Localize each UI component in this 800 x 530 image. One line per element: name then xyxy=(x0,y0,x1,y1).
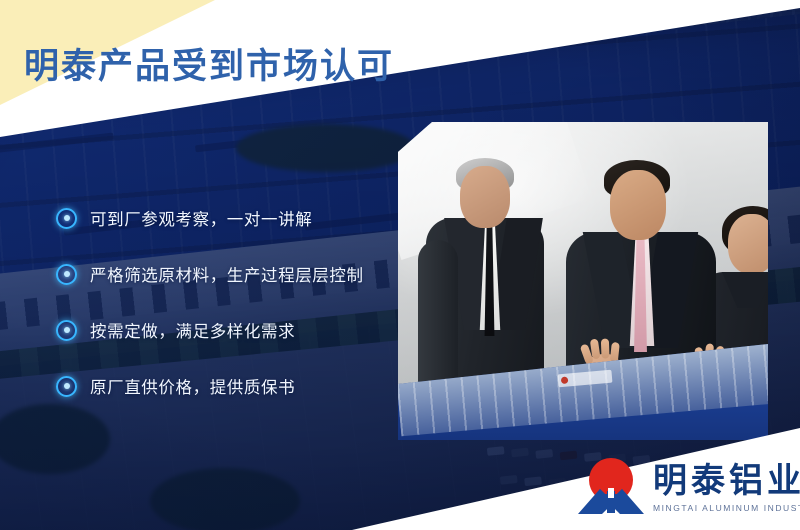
logo-text-block: 明泰铝业 MINGTAI ALUMINUM INDUSTRY CO., LTD xyxy=(653,458,800,513)
person-businessman-left-head xyxy=(460,166,510,228)
logo-center-highlight xyxy=(608,488,614,498)
business-people-photo xyxy=(398,122,768,440)
bullet-label: 严格筛选原材料，生产过程层层控制 xyxy=(90,262,364,286)
target-bullet-icon xyxy=(56,208,77,229)
list-item: 按需定做，满足多样化需求 xyxy=(56,318,396,342)
person-businessman-left-arm xyxy=(418,240,458,400)
target-bullet-icon xyxy=(56,320,77,341)
person-businesswoman-head xyxy=(728,214,768,274)
bullet-label: 原厂直供价格，提供质保书 xyxy=(90,374,295,398)
company-logo[interactable]: 明泰铝业 MINGTAI ALUMINUM INDUSTRY CO., LTD xyxy=(578,458,800,516)
target-bullet-icon xyxy=(56,376,77,397)
list-item: 严格筛选原材料，生产过程层层控制 xyxy=(56,262,396,286)
company-name-cn: 明泰铝业 xyxy=(653,464,800,498)
page-title: 明泰产品受到市场认可 xyxy=(24,49,394,84)
list-item: 原厂直供价格，提供质保书 xyxy=(56,374,396,398)
company-name-en: MINGTAI ALUMINUM INDUSTRY CO., LTD xyxy=(653,503,800,513)
promotional-banner: 明泰产品受到市场认可 可到厂参观考察，一对一讲解 严格筛选原材料，生产过程层层控… xyxy=(0,0,800,530)
photo-factory-sign xyxy=(558,370,613,388)
list-item: 可到厂参观考察，一对一讲解 xyxy=(56,206,396,230)
target-bullet-icon xyxy=(56,264,77,285)
bullet-label: 按需定做，满足多样化需求 xyxy=(90,318,295,342)
mingtai-red-sun-blue-mountain-logo-icon xyxy=(578,458,644,516)
person-businessman-center-head xyxy=(610,170,666,240)
bullet-label: 可到厂参观考察，一对一讲解 xyxy=(90,206,312,230)
feature-bullet-list: 可到厂参观考察，一对一讲解 严格筛选原材料，生产过程层层控制 按需定做，满足多样… xyxy=(56,206,396,430)
